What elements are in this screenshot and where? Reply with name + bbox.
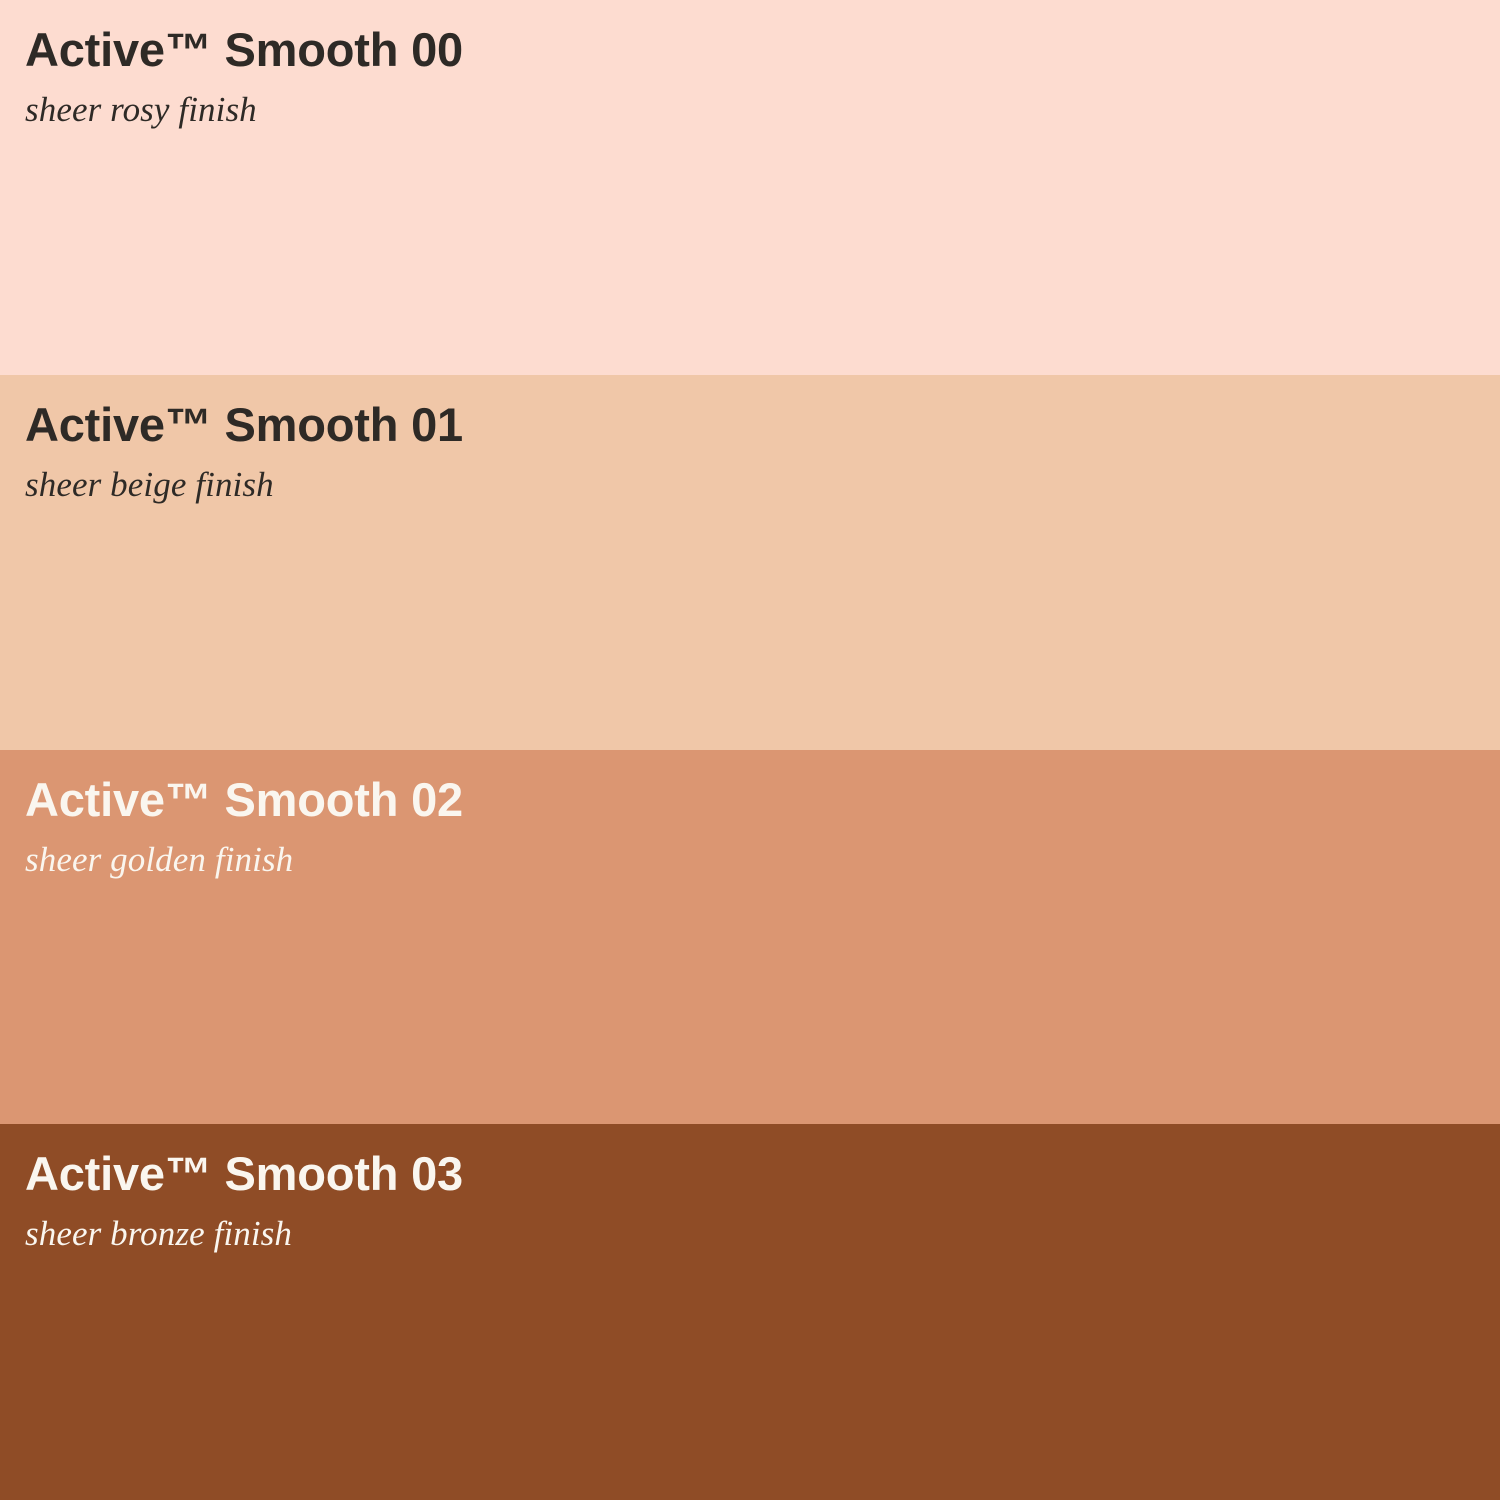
shade-title: Active™ Smooth 01	[25, 401, 463, 448]
shade-swatch-band[interactable]: Active™ Smooth 01 sheer beige finish	[0, 375, 1500, 750]
shade-title: Active™ Smooth 02	[25, 776, 463, 823]
shade-finish-description: sheer rosy finish	[25, 92, 257, 127]
shade-finish-description: sheer golden finish	[25, 842, 293, 877]
shade-title: Active™ Smooth 03	[25, 1150, 463, 1197]
shade-title: Active™ Smooth 00	[25, 26, 463, 73]
shade-swatch-band[interactable]: Active™ Smooth 02 sheer golden finish	[0, 750, 1500, 1124]
shade-swatch-band[interactable]: Active™ Smooth 00 sheer rosy finish	[0, 0, 1500, 375]
shade-finish-description: sheer bronze finish	[25, 1216, 292, 1251]
shade-swatch-band[interactable]: Active™ Smooth 03 sheer bronze finish	[0, 1124, 1500, 1500]
shade-range-chart: Active™ Smooth 00 sheer rosy finish Acti…	[0, 0, 1500, 1500]
shade-finish-description: sheer beige finish	[25, 467, 274, 502]
